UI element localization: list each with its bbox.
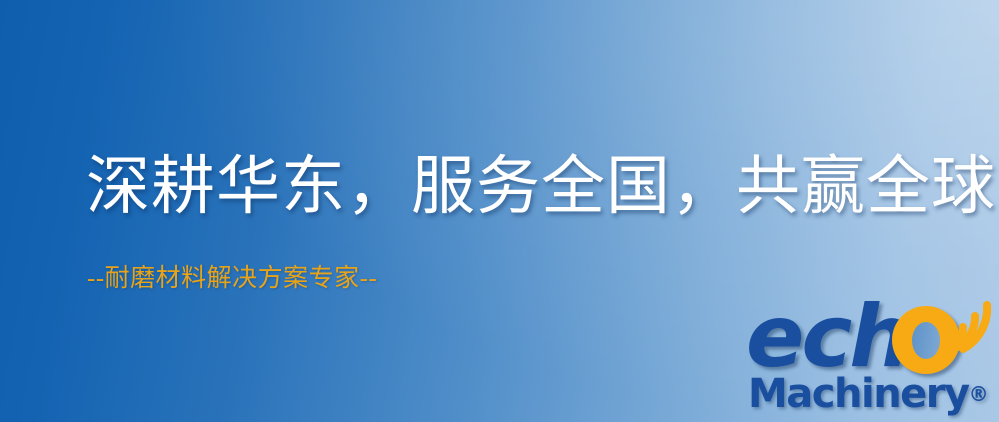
logo-o-counter [912, 322, 940, 359]
banner-headline: 深耕华东，服务全国，共赢全球 [86, 155, 996, 219]
logo-subwordmark-text: Machinery [748, 371, 969, 417]
signal-waves-icon [938, 282, 999, 358]
registered-trademark-icon: ® [969, 382, 989, 406]
hero-banner: 深耕华东，服务全国，共赢全球 --耐磨材料解决方案专家-- ech Machin… [0, 0, 999, 422]
banner-subtitle: --耐磨材料解决方案专家-- [87, 266, 377, 291]
echo-machinery-logo[interactable]: ech Machinery® [742, 298, 999, 422]
logo-subwordmark: Machinery® [748, 374, 989, 414]
logo-wordmark-ech: ech [746, 294, 908, 380]
